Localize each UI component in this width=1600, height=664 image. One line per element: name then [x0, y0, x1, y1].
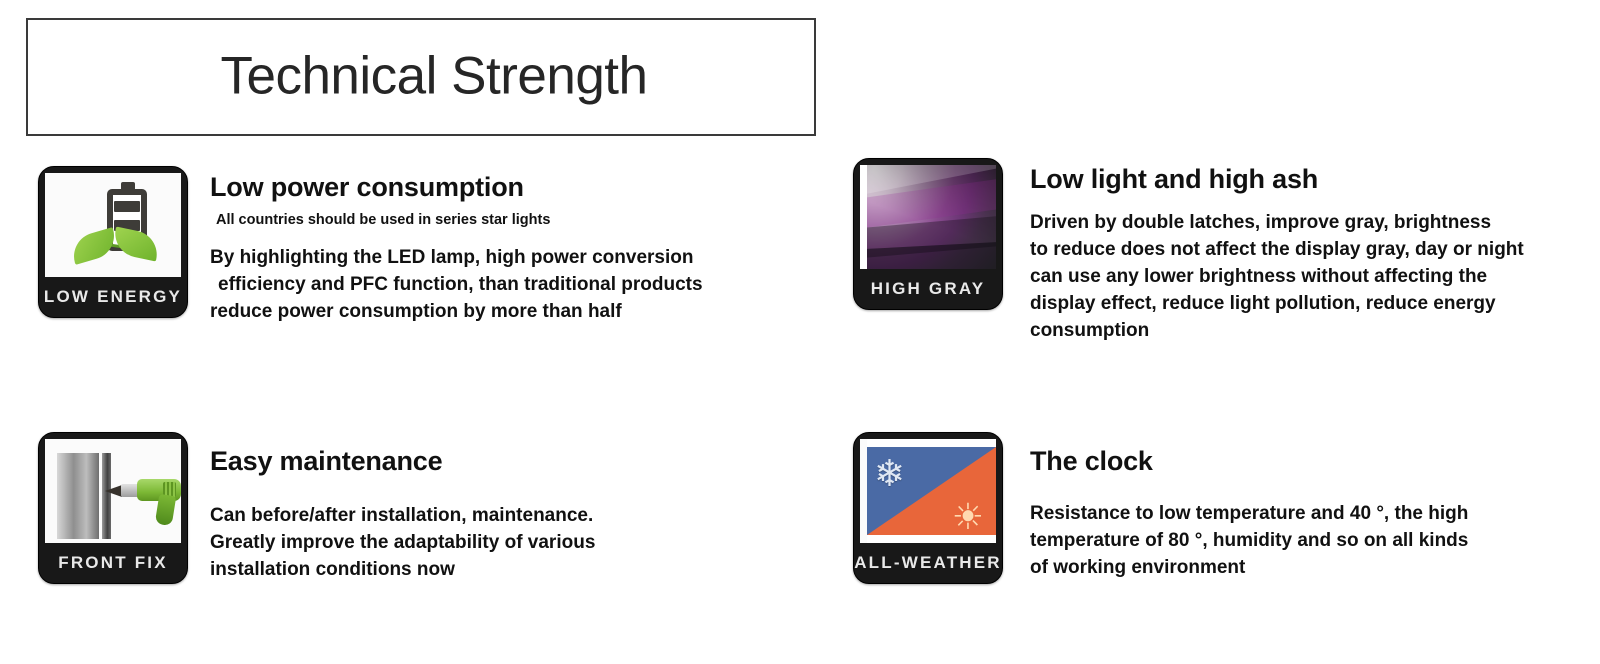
feature-body-line: installation conditions now	[210, 557, 595, 584]
feature-text-block: Low light and high ash Driven by double …	[1030, 158, 1570, 345]
feature-text-block: Easy maintenance Can before/after instal…	[210, 432, 595, 584]
feature-easy-maintenance: FRONT FIX Easy maintenance Can before/af…	[38, 432, 595, 584]
icon-caption: HIGH GRAY	[854, 268, 1002, 309]
feature-body: Resistance to low temperature and 40 °, …	[1030, 501, 1510, 582]
feature-title: Low power consumption	[210, 172, 703, 203]
gray-gradient-swatch	[867, 165, 996, 269]
all-weather-icon: ❄ ☀ ALL-WEATHER	[853, 432, 1003, 584]
feature-body-line: Resistance to low temperature and 40 °, …	[1030, 501, 1510, 528]
feature-title: The clock	[1030, 446, 1510, 477]
feature-subtitle: All countries should be used in series s…	[216, 212, 703, 228]
front-fix-icon: FRONT FIX	[38, 432, 188, 584]
feature-body-line: display effect, reduce light pollution, …	[1030, 291, 1570, 318]
feature-body-line: consumption	[1030, 318, 1570, 345]
leaf-icon	[111, 227, 161, 262]
feature-low-light-high-ash: HIGH GRAY Low light and high ash Driven …	[853, 158, 1570, 345]
swatch-left-margin	[860, 165, 867, 269]
snowflake-icon: ❄	[874, 455, 905, 492]
feature-the-clock: ❄ ☀ ALL-WEATHER The clock Resistance to …	[853, 432, 1510, 584]
icon-caption: ALL-WEATHER	[854, 542, 1002, 583]
front-fix-artwork	[45, 439, 181, 543]
title-banner: Technical Strength	[26, 18, 816, 136]
feature-body-line: Can before/after installation, maintenan…	[210, 503, 595, 530]
panel-icon	[57, 453, 99, 539]
feature-body-line: temperature of 80 °, humidity and so on …	[1030, 528, 1510, 555]
feature-low-power-consumption: LOW ENERGY Low power consumption All cou…	[38, 166, 703, 326]
low-energy-artwork	[45, 173, 181, 277]
feature-body-line: Driven by double latches, improve gray, …	[1030, 210, 1570, 237]
high-gray-artwork	[860, 165, 996, 269]
battery-level-bar	[114, 201, 140, 212]
sun-icon: ☀	[952, 499, 984, 535]
feature-body: Can before/after installation, maintenan…	[210, 503, 595, 584]
feature-title: Low light and high ash	[1030, 164, 1570, 195]
feature-body-line: to reduce does not affect the display gr…	[1030, 237, 1570, 264]
icon-caption: FRONT FIX	[39, 542, 187, 583]
feature-text-block: The clock Resistance to low temperature …	[1030, 432, 1510, 582]
drill-grip-icon	[155, 494, 176, 526]
feature-body-line: By highlighting the LED lamp, high power…	[210, 245, 703, 272]
feature-body-line: reduce power consumption by more than ha…	[210, 299, 703, 326]
feature-body-line: of working environment	[1030, 555, 1510, 582]
feature-body-line: can use any lower brightness without aff…	[1030, 264, 1570, 291]
low-energy-icon: LOW ENERGY	[38, 166, 188, 318]
drill-bit-icon	[105, 485, 122, 497]
icon-caption: LOW ENERGY	[39, 276, 187, 317]
feature-text-block: Low power consumption All countries shou…	[210, 166, 703, 326]
all-weather-artwork: ❄ ☀	[860, 439, 996, 543]
feature-body-line: Greatly improve the adaptability of vari…	[210, 530, 595, 557]
feature-body-line: efficiency and PFC function, than tradit…	[210, 272, 703, 299]
feature-title: Easy maintenance	[210, 446, 595, 477]
feature-body: By highlighting the LED lamp, high power…	[210, 245, 703, 326]
page-title: Technical Strength	[28, 45, 814, 106]
artwork-top-strip	[867, 439, 996, 447]
high-gray-icon: HIGH GRAY	[853, 158, 1003, 310]
feature-body: Driven by double latches, improve gray, …	[1030, 210, 1570, 345]
